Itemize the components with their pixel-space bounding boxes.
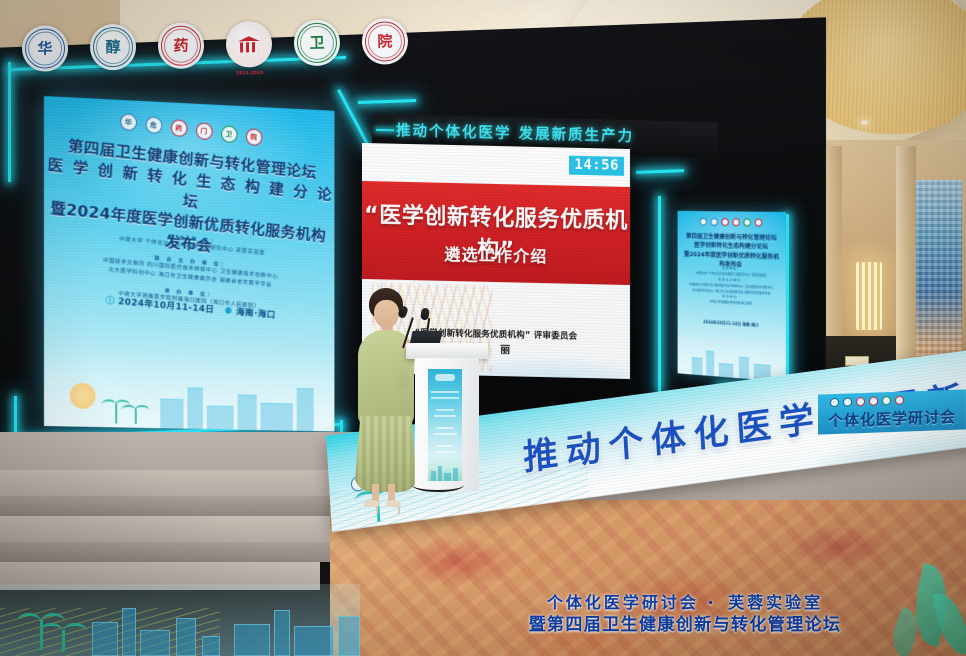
logo-glyph: 醇 bbox=[105, 39, 120, 54]
skyline-building bbox=[207, 405, 234, 429]
screen-logo-6: 院 bbox=[245, 128, 262, 146]
caption-line1-left: 个体化医学研讨会 bbox=[547, 593, 699, 612]
led-screen-right[interactable]: 第四届卫生健康创新与转化管理论坛 医学创新转化生态构建分论坛 暨2024年度医学… bbox=[678, 211, 786, 382]
right-screen-organizer-block: 主 办 单 位： 中南大学 个体化诊疗技术国家工程研究中心 芙蓉实验室 联 合 … bbox=[683, 265, 780, 309]
skyline-building bbox=[176, 618, 196, 656]
logo-hospital-red: 院 bbox=[361, 18, 408, 65]
side-logo-3 bbox=[856, 397, 865, 406]
palm-tree-graphic bbox=[115, 404, 117, 424]
logo-glyph: 药 bbox=[173, 38, 188, 53]
skyline-building bbox=[274, 610, 290, 656]
caption-line1-right: 芙蓉实验室 bbox=[728, 593, 823, 612]
screen-logo-3: 药 bbox=[170, 119, 188, 138]
caption-separator-dot: · bbox=[707, 593, 719, 612]
palm-tree-graphic bbox=[62, 630, 65, 652]
screen-logo-5 bbox=[743, 218, 750, 226]
side-logo-1 bbox=[830, 398, 839, 407]
neon-accent-line bbox=[658, 196, 661, 392]
conference-stage-photo: 华 危 药 门 卫 院 第四届卫生健康创新与转化管理论坛 医 学 创 新 转 化… bbox=[0, 0, 966, 656]
skyline-building bbox=[122, 608, 136, 656]
skyline-building bbox=[706, 350, 714, 376]
speaker-shoe bbox=[364, 500, 379, 507]
logo-glyph: 院 bbox=[377, 34, 392, 49]
stage-step-riser bbox=[0, 542, 330, 562]
ceiling-downlight bbox=[860, 120, 869, 125]
timestamp-badge: 14:56 bbox=[569, 156, 624, 176]
skyline-building bbox=[739, 357, 749, 379]
skyline-building bbox=[234, 624, 270, 656]
logo-medical-institute-red: 药 bbox=[158, 22, 205, 69]
screen-logo-2 bbox=[711, 218, 718, 226]
logo-glyph: 卫 bbox=[309, 35, 324, 50]
skyline-building bbox=[719, 363, 734, 378]
gate-icon bbox=[238, 36, 260, 52]
header-slogan: 推动个体化医学 发展新质生产力 bbox=[396, 119, 634, 146]
left-screen-city-skyline-graphic bbox=[44, 348, 334, 431]
skyline-building bbox=[297, 388, 314, 431]
side-logo-6 bbox=[895, 396, 904, 405]
screen-logo-1: 华 bbox=[119, 113, 137, 132]
logo-health-commission-green: 卫 bbox=[294, 19, 341, 66]
skyline-building bbox=[202, 636, 220, 656]
screen-logo-1 bbox=[700, 218, 707, 226]
stage-step-tread bbox=[0, 470, 340, 496]
screen-logo-3 bbox=[721, 218, 728, 226]
wall-sconce-light bbox=[856, 262, 882, 330]
logo-university-gate-1914-2024: 1914-2024 bbox=[226, 21, 273, 68]
side-logo-2 bbox=[843, 397, 852, 406]
sun-graphic bbox=[70, 383, 96, 409]
palm-tree-graphic bbox=[135, 409, 137, 424]
bottom-city-skyline-graphic bbox=[0, 584, 360, 656]
podium-cable bbox=[412, 478, 464, 492]
neon-accent-line bbox=[8, 62, 11, 182]
screen-logo-6 bbox=[755, 219, 763, 227]
speaker-shoe bbox=[386, 500, 401, 507]
side-logo-5 bbox=[882, 396, 891, 405]
skyline-building bbox=[187, 387, 202, 429]
screen-logo-2: 危 bbox=[145, 116, 163, 135]
screen-logo-4 bbox=[732, 218, 739, 226]
clock-icon: ⓘ bbox=[105, 296, 115, 307]
podium-lectern bbox=[415, 343, 479, 491]
skyline-building bbox=[140, 630, 170, 656]
institution-logo-row: 华 醇 药 1914-2024 卫 院 bbox=[22, 18, 409, 72]
right-screen-logo-strip bbox=[678, 218, 786, 227]
logo-central-south-university: 华 bbox=[22, 25, 69, 72]
logo-medical-institute-blue: 醇 bbox=[90, 24, 137, 71]
logo-glyph: 华 bbox=[37, 41, 52, 56]
logo-anniversary-years: 1914-2024 bbox=[236, 71, 264, 77]
speaker-skirt bbox=[354, 416, 418, 492]
skyline-building bbox=[294, 626, 334, 656]
side-logo-4 bbox=[869, 396, 878, 405]
led-screen-left[interactable]: 华 危 药 门 卫 院 第四届卫生健康创新与转化管理论坛 医 学 创 新 转 化… bbox=[44, 96, 334, 431]
caption-line1: 个体化医学研讨会 · 芙蓉实验室 bbox=[470, 594, 900, 613]
side-banner-text: 个体化医学研讨会 bbox=[828, 406, 956, 431]
neon-dash-icon bbox=[376, 129, 394, 131]
skyline-building bbox=[160, 399, 183, 429]
right-screen-date-location: 2024年10月11-14日 海南·海口 bbox=[678, 318, 786, 330]
screen-logo-4: 门 bbox=[195, 122, 213, 141]
podium-top-surface bbox=[406, 343, 488, 359]
skyline-building bbox=[261, 403, 293, 431]
right-screen-city-graphic bbox=[678, 333, 786, 382]
side-banner-logo-strip bbox=[830, 396, 904, 408]
skyline-building bbox=[338, 616, 360, 656]
skyline-building bbox=[692, 357, 703, 375]
stage-step-riser bbox=[0, 496, 340, 516]
caption-overlay: 个体化医学研讨会 · 芙蓉实验室 暨第四届卫生健康创新与转化管理论坛 bbox=[470, 594, 900, 635]
podium-graphic-panel bbox=[428, 369, 462, 481]
location-pin-icon: ⚉ bbox=[224, 307, 233, 318]
screen-logo-5: 卫 bbox=[220, 125, 237, 144]
side-blue-banner: 个体化医学研讨会 bbox=[818, 389, 966, 434]
neon-accent-line bbox=[14, 396, 17, 434]
stage-step-tread bbox=[0, 516, 330, 542]
skyline-building bbox=[92, 622, 118, 656]
caption-line2: 暨第四届卫生健康创新与转化管理论坛 bbox=[470, 615, 900, 635]
skyline-building bbox=[238, 394, 257, 430]
podium-panel-logo bbox=[435, 374, 455, 381]
